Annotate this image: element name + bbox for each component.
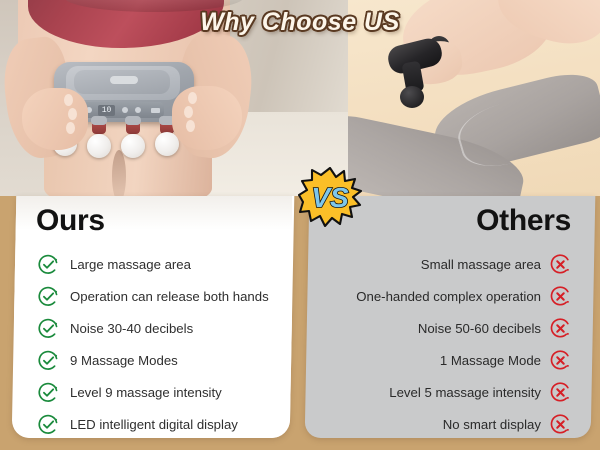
model-left-hand — [22, 88, 88, 150]
list-item: LED intelligent digital display — [14, 408, 292, 438]
massage-head-2 — [87, 134, 111, 158]
device-display: 10 — [98, 105, 115, 116]
fingernail — [66, 122, 75, 134]
check-circle-icon — [38, 414, 59, 435]
list-item-label: LED intelligent digital display — [70, 417, 238, 432]
list-item: Large massage area — [14, 248, 292, 280]
cross-circle-icon — [550, 382, 571, 403]
list-item: Operation can release both hands — [14, 280, 292, 312]
list-item-label: Level 9 massage intensity — [70, 385, 222, 400]
list-item: Small massage area — [307, 248, 593, 280]
list-item-label: Level 5 massage intensity — [389, 385, 541, 400]
others-heading: Others — [476, 204, 571, 238]
fingernail — [186, 120, 195, 132]
vs-badge: VS — [298, 167, 362, 227]
cross-circle-icon — [550, 414, 571, 435]
list-item: Noise 30-40 decibels — [14, 312, 292, 344]
check-circle-icon — [38, 254, 59, 275]
list-item-label: No smart display — [443, 417, 541, 432]
vs-label: VS — [311, 182, 349, 213]
check-circle-icon — [38, 382, 59, 403]
list-item-label: Operation can release both hands — [70, 289, 269, 304]
device-level-button — [135, 107, 141, 113]
fingernail — [184, 106, 193, 118]
cross-circle-icon — [550, 254, 571, 275]
list-item-label: Small massage area — [421, 257, 541, 272]
device-battery-indicator — [151, 108, 160, 113]
list-item: Noise 50-60 decibels — [307, 312, 593, 344]
cross-circle-icon — [550, 286, 571, 307]
list-item: No smart display — [307, 408, 593, 438]
list-item-label: Large massage area — [70, 257, 191, 272]
check-circle-icon — [38, 286, 59, 307]
list-item: Level 5 massage intensity — [307, 376, 593, 408]
list-item-label: One-handed complex operation — [356, 289, 541, 304]
fingernail — [68, 108, 77, 120]
cross-circle-icon — [550, 350, 571, 371]
list-item: One-handed complex operation — [307, 280, 593, 312]
ours-panel: Ours Large massage area — [12, 196, 295, 438]
page-title: Why Choose US — [0, 8, 600, 37]
massage-head-cap-2 — [91, 116, 107, 125]
fingernail — [64, 94, 73, 106]
others-list: Small massage area One-handed complex op… — [307, 248, 593, 438]
device-top-grip — [110, 76, 138, 84]
leg-gap-shadow — [112, 150, 126, 196]
list-item-label: Noise 50-60 decibels — [418, 321, 541, 336]
list-item-label: Noise 30-40 decibels — [70, 321, 193, 336]
check-circle-icon — [38, 318, 59, 339]
fingernail — [188, 92, 197, 104]
model-right-hand — [172, 86, 242, 150]
device-mode-button — [122, 107, 128, 113]
list-item-label: 9 Massage Modes — [70, 353, 178, 368]
ours-heading: Ours — [36, 204, 105, 238]
list-item: 1 Massage Mode — [307, 344, 593, 376]
list-item-label: 1 Massage Mode — [440, 353, 541, 368]
others-panel: Others Small massage area One-handed com… — [305, 196, 596, 438]
list-item: 9 Massage Modes — [14, 344, 292, 376]
cross-circle-icon — [550, 318, 571, 339]
massage-gun-head — [400, 86, 424, 108]
infographic-canvas: 10 — [0, 0, 600, 450]
ours-list: Large massage area Operation can release… — [14, 248, 292, 438]
massage-head-3 — [121, 134, 145, 158]
check-circle-icon — [38, 350, 59, 371]
list-item: Level 9 massage intensity — [14, 376, 292, 408]
massage-head-cap-3 — [125, 116, 141, 125]
